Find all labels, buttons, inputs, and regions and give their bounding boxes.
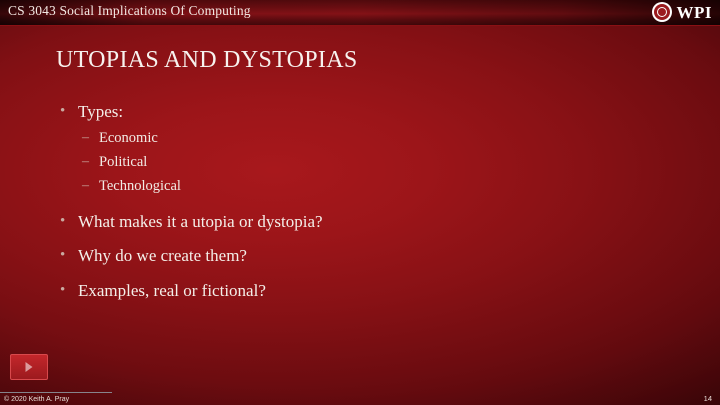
bullet-dash-icon: – [82,154,89,169]
wpi-seal-icon [652,2,672,22]
bullet-dash-icon: – [82,130,89,145]
copyright-text: © 2020 Keith A. Pray [4,396,69,403]
bullet-item: • What makes it a utopia or dystopia? [56,213,656,232]
bullet-item: • Examples, real or fictional? [56,282,656,301]
bullet-item: – Economic [56,131,656,147]
page-title: UTOPIAS AND DYSTOPIAS [56,47,357,74]
bullet-text: Technological [99,178,181,194]
bullet-dash-icon: – [82,178,89,193]
bullet-text: Why do we create them? [78,246,247,265]
slide-header-bar: CS 3043 Social Implications Of Computing… [0,0,720,26]
course-title: CS 3043 Social Implications Of Computing [8,3,251,19]
page-number: 14 [704,394,712,403]
footer-divider [0,392,112,393]
bullet-item: • Why do we create them? [56,247,656,266]
bullet-text: Political [99,154,147,170]
bullet-item: – Technological [56,179,656,195]
bullet-text: Examples, real or fictional? [78,281,266,300]
video-thumbnail[interactable] [10,354,48,380]
bullet-item: • Types: [56,103,656,122]
wpi-logo: WPI [652,2,713,22]
presentation-slide: CS 3043 Social Implications Of Computing… [0,0,720,405]
bullet-item: – Political [56,155,656,171]
bullet-text: Types: [78,102,123,121]
bullet-text: What makes it a utopia or dystopia? [78,212,323,231]
bullet-marker-icon: • [60,213,65,230]
bullet-marker-icon: • [60,103,65,120]
bullet-marker-icon: • [60,247,65,264]
slide-body: • Types: – Economic – Political – Techno… [56,103,656,310]
bullet-marker-icon: • [60,282,65,299]
bullet-text: Economic [99,130,158,146]
wpi-logo-text: WPI [677,4,713,21]
